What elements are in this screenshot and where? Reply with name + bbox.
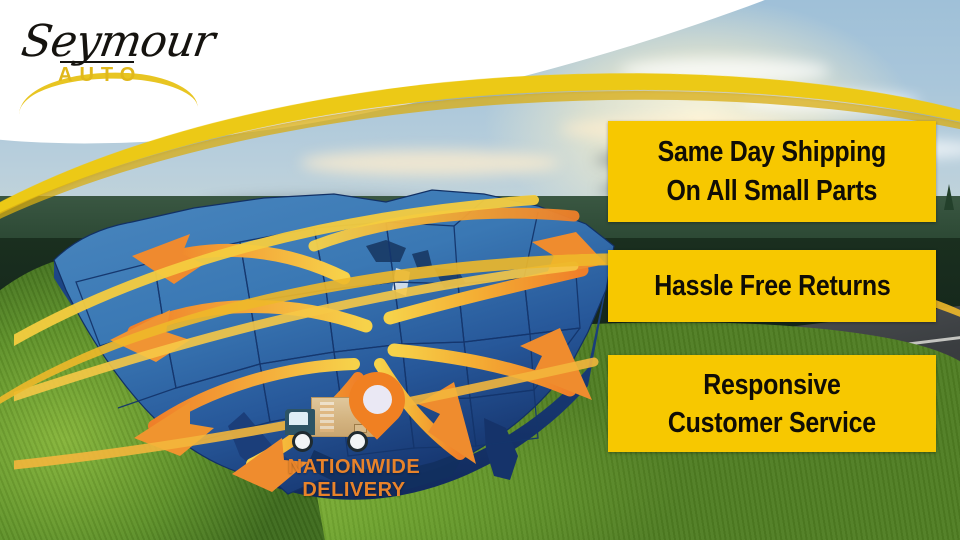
brand-logo[interactable]: Seymour AUTO [14, 6, 204, 102]
logo-underline [60, 61, 134, 63]
banner-line: On All Small Parts [658, 172, 886, 211]
banner-line: Responsive [668, 366, 876, 404]
banner-responsive-customer-service[interactable]: Responsive Customer Service [608, 355, 936, 452]
banner-line: Customer Service [668, 404, 876, 442]
brand-sub-name: AUTO [58, 64, 142, 87]
promo-banner-image: Seymour AUTO [0, 0, 960, 540]
banner-same-day-shipping[interactable]: Same Day Shipping On All Small Parts [608, 121, 936, 222]
banner-line: Same Day Shipping [658, 133, 886, 172]
brand-script-name: Seymour [18, 16, 218, 67]
banner-hassle-free-returns[interactable]: Hassle Free Returns [608, 250, 936, 322]
banner-line: Hassle Free Returns [654, 269, 890, 303]
